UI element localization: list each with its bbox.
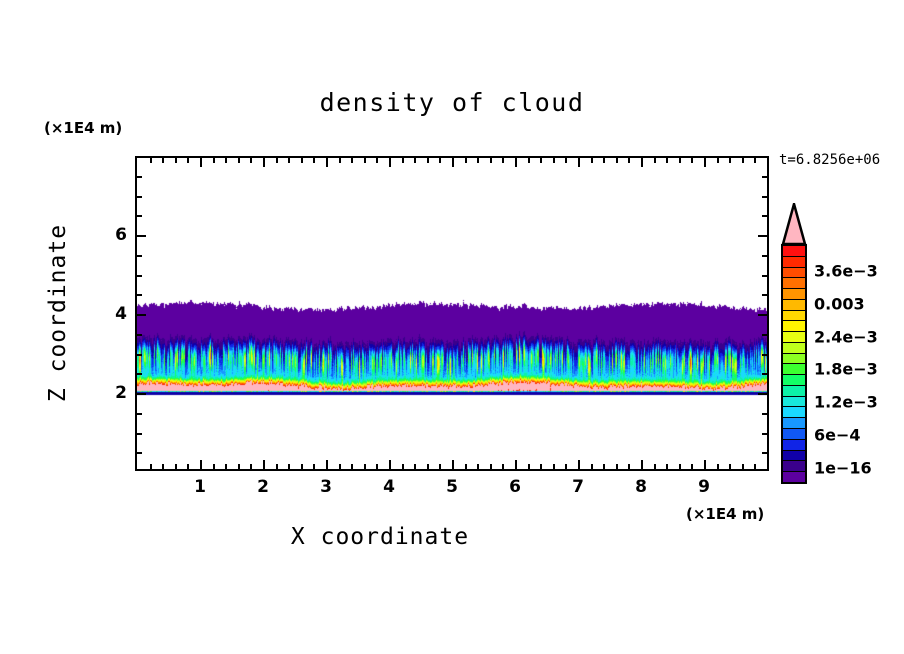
y-tick-minor <box>137 176 142 178</box>
colorbar-tick-label: 3.6e−3 <box>814 262 878 281</box>
x-tick-top-minor <box>628 158 630 163</box>
colorbar-band <box>783 268 805 279</box>
x-tick-top-major <box>263 158 265 167</box>
x-tick-top-minor <box>213 158 215 163</box>
x-tick-top-minor <box>150 158 152 163</box>
colorbar-tick-label: 1e−16 <box>814 458 872 477</box>
colorbar-band <box>783 472 805 482</box>
x-tick-major <box>704 460 706 469</box>
y-tick-minor <box>137 373 142 375</box>
x-tick-top-minor <box>691 158 693 163</box>
x-tick-minor <box>565 464 567 469</box>
x-tick-label: 5 <box>446 477 458 497</box>
y-tick-right-minor <box>762 334 767 336</box>
x-tick-top-minor <box>402 158 404 163</box>
colorbar-band <box>783 461 805 472</box>
x-tick-minor <box>402 464 404 469</box>
x-tick-top-major <box>326 158 328 167</box>
x-tick-top-major <box>200 158 202 167</box>
x-tick-minor <box>666 464 668 469</box>
x-tick-major <box>389 460 391 469</box>
x-tick-label: 6 <box>509 477 521 497</box>
colorbar-tick-label: 1.8e−3 <box>814 360 878 379</box>
y-tick-minor <box>137 433 142 435</box>
x-tick-minor <box>150 464 152 469</box>
y-tick-label: 6 <box>115 225 127 245</box>
y-tick-minor <box>137 196 142 198</box>
colorbar-band <box>783 311 805 322</box>
x-tick-top-minor <box>439 158 441 163</box>
colorbar-band <box>783 289 805 300</box>
x-tick-minor <box>339 464 341 469</box>
y-tick-minor <box>137 215 142 217</box>
x-tick-major <box>200 460 202 469</box>
colorbar-band <box>783 440 805 451</box>
page-title: density of cloud <box>0 88 904 117</box>
x-tick-minor <box>250 464 252 469</box>
colorbar-tick-label: 2.4e−3 <box>814 327 878 346</box>
colorbar-band <box>783 321 805 332</box>
colorbar-band <box>783 278 805 289</box>
y-tick-right-minor <box>762 176 767 178</box>
colorbar-band <box>783 343 805 354</box>
colorbar-band <box>783 397 805 408</box>
colorbar-band <box>783 418 805 429</box>
x-tick-minor <box>175 464 177 469</box>
x-tick-minor <box>603 464 605 469</box>
x-tick-minor <box>528 464 530 469</box>
colorbar-bands <box>781 244 807 484</box>
y-tick-label: 2 <box>115 383 127 403</box>
colorbar-band <box>783 429 805 440</box>
x-tick-minor <box>654 464 656 469</box>
x-tick-minor <box>301 464 303 469</box>
x-tick-label: 7 <box>572 477 584 497</box>
colorbar-band <box>783 354 805 365</box>
x-tick-minor <box>427 464 429 469</box>
colorbar-band <box>783 257 805 268</box>
colorbar-tick-label: 1.2e−3 <box>814 393 878 412</box>
y-tick-label: 4 <box>115 304 127 324</box>
x-tick-top-minor <box>225 158 227 163</box>
x-tick-top-minor <box>276 158 278 163</box>
x-tick-top-minor <box>616 158 618 163</box>
x-tick-minor <box>502 464 504 469</box>
x-tick-minor <box>351 464 353 469</box>
x-tick-top-minor <box>540 158 542 163</box>
x-tick-top-minor <box>729 158 731 163</box>
y-tick-right-minor <box>762 433 767 435</box>
x-tick-minor <box>439 464 441 469</box>
y-tick-right-major <box>758 314 767 316</box>
x-tick-minor <box>742 464 744 469</box>
y-tick-right-minor <box>762 275 767 277</box>
x-tick-minor <box>616 464 618 469</box>
x-tick-top-minor <box>666 158 668 163</box>
y-tick-right-major <box>758 235 767 237</box>
x-tick-top-minor <box>754 158 756 163</box>
contour-plot-area <box>135 156 769 471</box>
x-tick-top-minor <box>528 158 530 163</box>
x-tick-top-minor <box>717 158 719 163</box>
x-tick-major <box>641 460 643 469</box>
x-tick-minor <box>553 464 555 469</box>
y-tick-minor <box>137 255 142 257</box>
x-tick-top-major <box>641 158 643 167</box>
y-tick-minor <box>137 413 142 415</box>
x-tick-top-minor <box>351 158 353 163</box>
x-tick-label: 1 <box>194 477 206 497</box>
x-tick-minor <box>628 464 630 469</box>
x-tick-minor <box>490 464 492 469</box>
x-tick-minor <box>729 464 731 469</box>
x-tick-minor <box>679 464 681 469</box>
x-tick-label: 2 <box>257 477 269 497</box>
x-tick-top-minor <box>465 158 467 163</box>
x-tick-minor <box>276 464 278 469</box>
x-tick-label: 9 <box>698 477 710 497</box>
x-tick-top-major <box>704 158 706 167</box>
x-tick-top-minor <box>250 158 252 163</box>
y-tick-major <box>137 314 146 316</box>
y-axis-title: Z coordinate <box>45 213 71 413</box>
y-tick-minor <box>137 275 142 277</box>
x-tick-top-minor <box>742 158 744 163</box>
colorbar-arrow-icon <box>781 203 807 245</box>
x-tick-top-minor <box>654 158 656 163</box>
x-tick-minor <box>754 464 756 469</box>
y-tick-major <box>137 235 146 237</box>
x-tick-minor <box>288 464 290 469</box>
x-tick-top-minor <box>301 158 303 163</box>
x-tick-top-minor <box>175 158 177 163</box>
x-tick-top-minor <box>553 158 555 163</box>
contour-field-canvas <box>137 158 767 469</box>
colorbar: 3.6e−30.0032.4e−31.8e−31.2e−36e−41e−16 <box>781 203 901 488</box>
x-tick-major <box>515 460 517 469</box>
y-axis-unit-label: (×1E4 m) <box>44 119 122 137</box>
x-tick-top-minor <box>187 158 189 163</box>
x-axis-unit-label: (×1E4 m) <box>686 505 764 523</box>
colorbar-band <box>783 451 805 462</box>
x-tick-major <box>326 460 328 469</box>
x-tick-top-minor <box>238 158 240 163</box>
x-tick-major <box>263 460 265 469</box>
x-tick-minor <box>238 464 240 469</box>
y-tick-minor <box>137 354 142 356</box>
x-tick-top-minor <box>364 158 366 163</box>
y-tick-right-minor <box>762 452 767 454</box>
colorbar-band <box>783 332 805 343</box>
x-tick-top-minor <box>288 158 290 163</box>
x-tick-minor <box>213 464 215 469</box>
x-tick-label: 8 <box>635 477 647 497</box>
colorbar-tick-label: 0.003 <box>814 295 865 314</box>
x-tick-label: 4 <box>383 477 395 497</box>
y-tick-right-minor <box>762 255 767 257</box>
x-tick-top-major <box>515 158 517 167</box>
x-tick-top-minor <box>603 158 605 163</box>
y-tick-right-minor <box>762 215 767 217</box>
x-tick-top-minor <box>679 158 681 163</box>
x-tick-top-minor <box>591 158 593 163</box>
x-tick-top-minor <box>502 158 504 163</box>
x-tick-minor <box>414 464 416 469</box>
x-axis-title: X coordinate <box>0 524 760 550</box>
x-tick-label: 3 <box>320 477 332 497</box>
colorbar-band <box>783 407 805 418</box>
x-tick-minor <box>465 464 467 469</box>
x-tick-minor <box>162 464 164 469</box>
colorbar-tick-label: 6e−4 <box>814 425 861 444</box>
x-tick-minor <box>717 464 719 469</box>
x-tick-minor <box>540 464 542 469</box>
x-tick-minor <box>591 464 593 469</box>
x-tick-top-minor <box>339 158 341 163</box>
y-tick-minor <box>137 294 142 296</box>
x-tick-minor <box>225 464 227 469</box>
x-tick-top-minor <box>414 158 416 163</box>
x-tick-major <box>578 460 580 469</box>
y-tick-minor <box>137 334 142 336</box>
colorbar-band <box>783 246 805 257</box>
y-tick-right-minor <box>762 354 767 356</box>
x-tick-top-minor <box>313 158 315 163</box>
colorbar-band <box>783 375 805 386</box>
x-tick-minor <box>313 464 315 469</box>
y-tick-right-minor <box>762 413 767 415</box>
x-tick-top-minor <box>162 158 164 163</box>
x-tick-top-minor <box>490 158 492 163</box>
y-tick-right-minor <box>762 373 767 375</box>
x-tick-top-minor <box>477 158 479 163</box>
x-tick-top-minor <box>427 158 429 163</box>
x-tick-major <box>452 460 454 469</box>
x-tick-minor <box>187 464 189 469</box>
y-tick-major <box>137 393 146 395</box>
y-tick-minor <box>137 452 142 454</box>
x-tick-minor <box>691 464 693 469</box>
x-tick-top-major <box>389 158 391 167</box>
timestamp-label: t=6.8256e+06 <box>779 152 880 168</box>
x-tick-top-minor <box>376 158 378 163</box>
x-tick-minor <box>376 464 378 469</box>
colorbar-band <box>783 300 805 311</box>
y-tick-right-minor <box>762 196 767 198</box>
x-tick-top-major <box>452 158 454 167</box>
y-tick-right-minor <box>762 294 767 296</box>
x-tick-top-major <box>578 158 580 167</box>
colorbar-band <box>783 386 805 397</box>
y-tick-right-major <box>758 393 767 395</box>
x-tick-minor <box>364 464 366 469</box>
x-tick-top-minor <box>565 158 567 163</box>
x-tick-minor <box>477 464 479 469</box>
colorbar-band <box>783 364 805 375</box>
